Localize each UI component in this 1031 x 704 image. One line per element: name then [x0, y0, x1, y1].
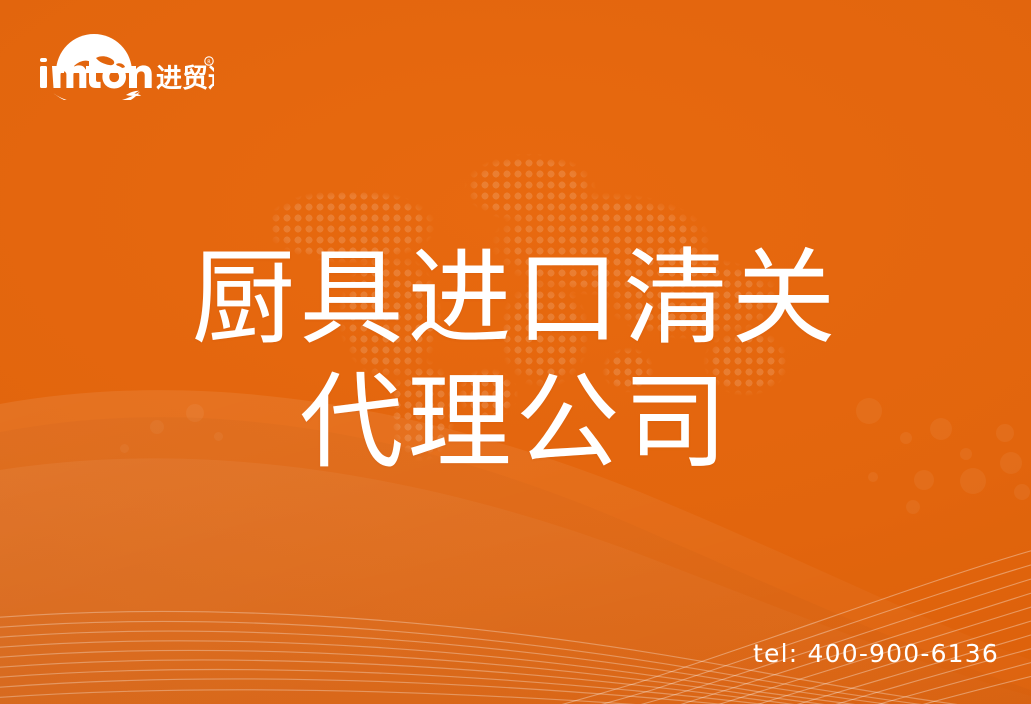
contact-phone[interactable]: tel: 400-900-6136: [753, 639, 999, 668]
promo-banner: 进贸通 R 厨具进口清关 代理公司 tel: 400-900-6136: [0, 0, 1031, 704]
svg-text:进贸通: 进贸通: [156, 64, 214, 94]
headline-line-2: 代理公司: [0, 360, 1031, 484]
logo-wordmark: [40, 58, 152, 89]
page-title: 厨具进口清关 代理公司: [0, 236, 1031, 484]
logo-chinese-name: 进贸通: [156, 64, 214, 94]
brand-logo[interactable]: 进贸通 R: [34, 28, 214, 100]
headline-line-1: 厨具进口清关: [0, 236, 1031, 360]
swoosh-icon: [52, 91, 141, 100]
svg-text:R: R: [207, 60, 211, 66]
